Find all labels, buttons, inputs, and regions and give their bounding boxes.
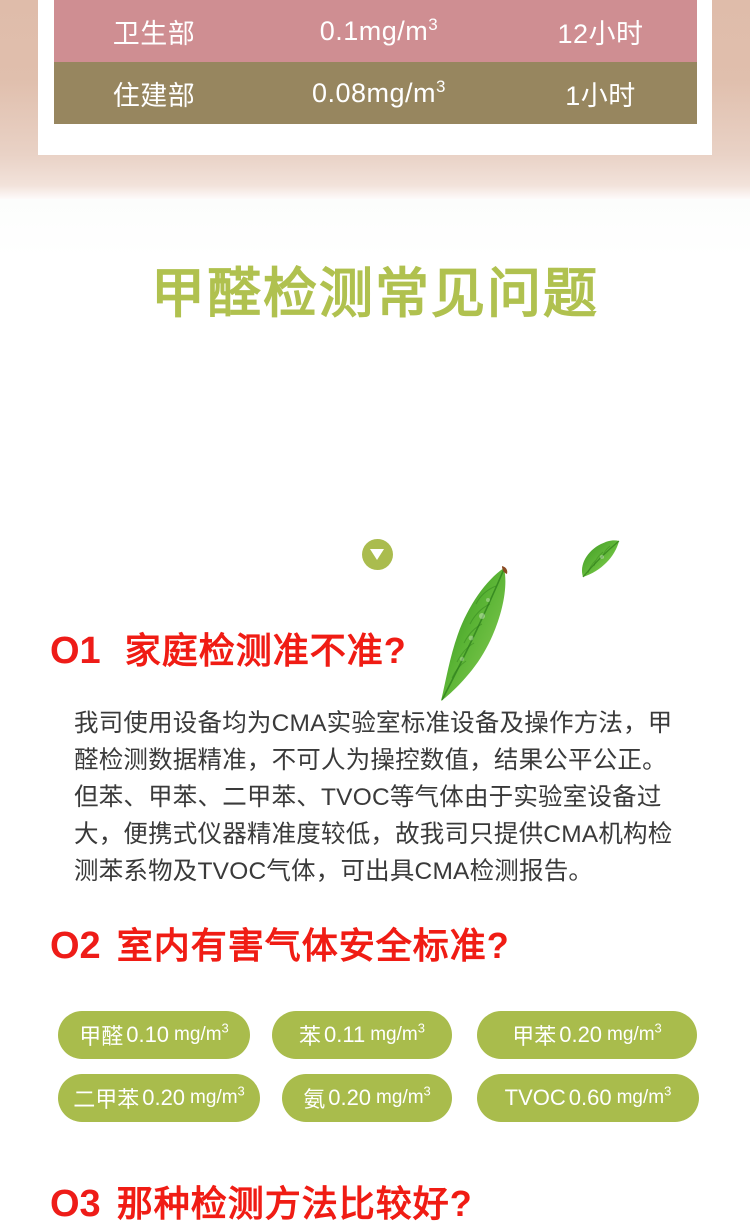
standard-chip: TVOC 0.60 mg/m3 [477, 1074, 699, 1122]
table-cell-duration: 12小时 [504, 12, 697, 51]
standards-chip-group: 甲醛 0.10 mg/m3 苯 0.11 mg/m3 甲苯 0.20 mg/m3 [58, 1011, 718, 1137]
gas-value: 0.10 [126, 1022, 169, 1048]
gas-unit: mg/m3 [376, 1087, 431, 1109]
standard-chip: 苯 0.11 mg/m3 [272, 1011, 452, 1059]
table-cell-department: 卫生部 [54, 12, 254, 51]
gas-name: 甲苯 [512, 1019, 556, 1051]
gas-name: 苯 [299, 1019, 321, 1051]
table-cell-limit: 0.08mg/m3 [254, 78, 504, 109]
standards-table: 卫生部 0.1mg/m3 12小时 住建部 0.08mg/m3 1小时 [54, 0, 697, 124]
gas-name: 甲醛 [79, 1019, 123, 1051]
gas-value: 0.11 [324, 1022, 365, 1048]
gas-name: 氨 [303, 1082, 325, 1114]
standard-chip: 氨 0.20 mg/m3 [282, 1074, 452, 1122]
product-detail-page: 卫生部 0.1mg/m3 12小时 住建部 0.08mg/m3 1小时 甲醛检测… [0, 0, 750, 1034]
gas-value: 0.60 [569, 1085, 612, 1111]
gas-name: TVOC [505, 1085, 566, 1111]
faq-section: 甲醛检测常见问题 [0, 199, 750, 1034]
gas-unit: mg/m3 [617, 1087, 672, 1109]
leaf-icon [575, 535, 623, 583]
gas-value: 0.20 [559, 1022, 602, 1048]
table-row: 卫生部 0.1mg/m3 12小时 [54, 0, 697, 62]
faq-number: O1 [50, 630, 101, 673]
faq-answer-1: 我司使用设备均为CMA实验室标准设备及操作方法，甲醛检测数据精准，不可人为操控数… [74, 705, 674, 890]
table-cell-department: 住建部 [54, 74, 254, 113]
limit-value: 0.1mg/m [320, 16, 429, 46]
faq-heading-1: O1 家庭检测准不准? [50, 622, 407, 674]
gas-value: 0.20 [328, 1085, 371, 1111]
table-row: 住建部 0.08mg/m3 1小时 [54, 62, 697, 124]
standard-chip: 甲醛 0.10 mg/m3 [58, 1011, 250, 1059]
table-cell-limit: 0.1mg/m3 [254, 16, 504, 47]
gas-unit: mg/m3 [370, 1024, 425, 1046]
gas-name: 二甲苯 [73, 1082, 139, 1114]
top-gradient-band: 卫生部 0.1mg/m3 12小时 住建部 0.08mg/m3 1小时 [0, 0, 750, 199]
standards-table-frame: 卫生部 0.1mg/m3 12小时 住建部 0.08mg/m3 1小时 [38, 0, 712, 155]
standard-chip: 二甲苯 0.20 mg/m3 [58, 1074, 260, 1122]
chevron-down-icon [362, 539, 393, 570]
leaf-icon [438, 564, 516, 704]
gas-value: 0.20 [142, 1085, 185, 1111]
faq-question: 家庭检测准不准? [125, 622, 407, 674]
gas-unit: mg/m3 [607, 1024, 662, 1046]
faq-number: O2 [50, 925, 101, 968]
limit-exponent: 3 [428, 15, 438, 34]
section-title: 甲醛检测常见问题 [0, 267, 750, 321]
standards-chip-row: 甲醛 0.10 mg/m3 苯 0.11 mg/m3 甲苯 0.20 mg/m3 [58, 1011, 718, 1059]
faq-question: 室内有害气体安全标准? [117, 917, 510, 969]
table-cell-duration: 1小时 [504, 74, 697, 113]
faq-number: O3 [50, 1183, 101, 1226]
standards-chip-row: 二甲苯 0.20 mg/m3 氨 0.20 mg/m3 TVOC 0.60 mg… [58, 1074, 718, 1122]
faq-heading-3: O3 那种检测方法比较好? [50, 1175, 473, 1227]
gas-unit: mg/m3 [190, 1087, 245, 1109]
gas-unit: mg/m3 [174, 1024, 229, 1046]
standard-chip: 甲苯 0.20 mg/m3 [477, 1011, 697, 1059]
limit-value: 0.08mg/m [312, 78, 436, 108]
faq-question: 那种检测方法比较好? [117, 1175, 473, 1227]
limit-exponent: 3 [436, 77, 446, 96]
faq-heading-2: O2 室内有害气体安全标准? [50, 917, 510, 969]
